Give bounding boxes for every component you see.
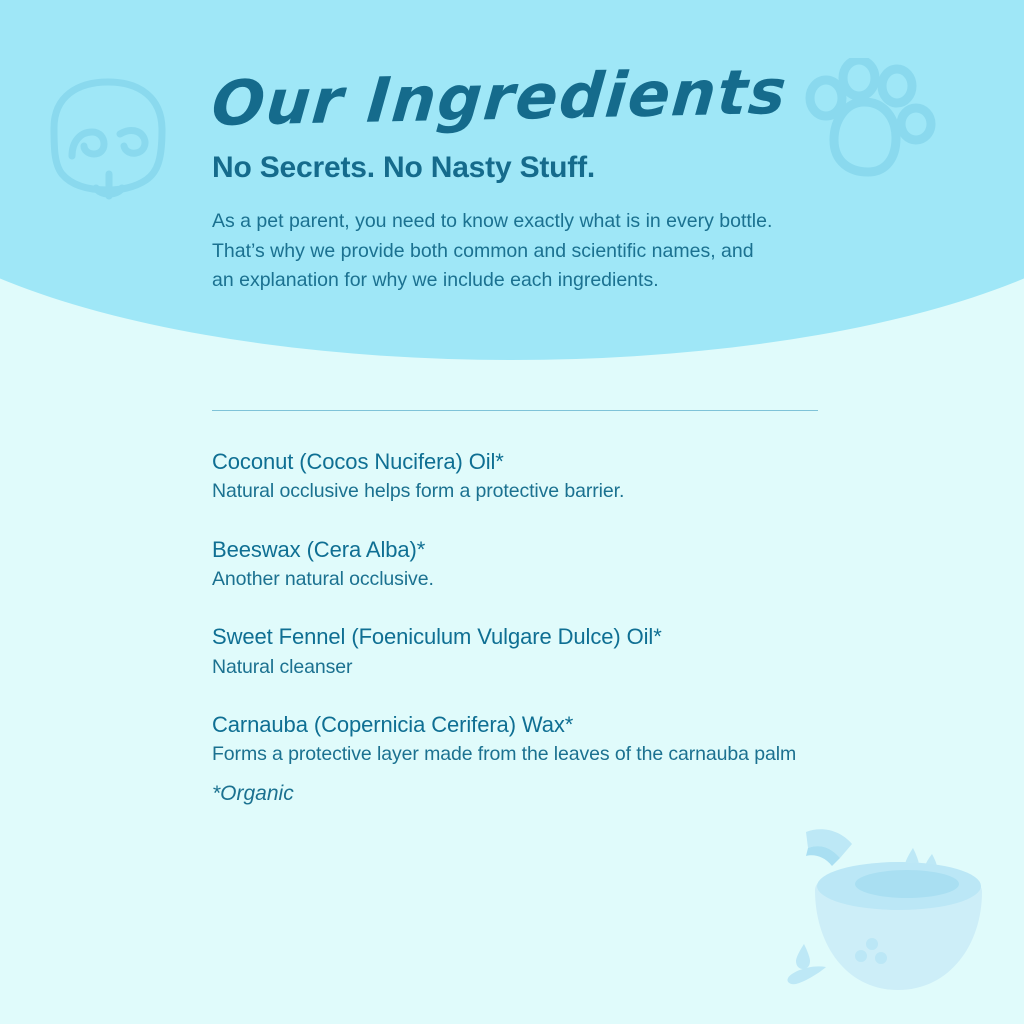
ingredient-description: Natural occlusive helps form a protectiv…	[212, 478, 932, 504]
poster-canvas: Our Ingredients No Secrets. No Nasty Stu…	[0, 0, 1024, 1024]
list-item: Beeswax (Cera Alba)* Another natural occ…	[212, 535, 932, 593]
header-text-block: Our Ingredients No Secrets. No Nasty Stu…	[212, 72, 912, 296]
list-item: Sweet Fennel (Foeniculum Vulgare Dulce) …	[212, 622, 932, 680]
ingredient-name: Beeswax (Cera Alba)*	[212, 535, 932, 564]
page-title: Our Ingredients	[209, 57, 916, 135]
ingredients-list: Coconut (Cocos Nucifera) Oil* Natural oc…	[212, 447, 932, 767]
ingredient-description: Natural cleanser	[212, 654, 932, 680]
section-divider	[212, 410, 818, 411]
intro-line: That’s why we provide both common and sc…	[212, 237, 892, 267]
intro-paragraph: As a pet parent, you need to know exactl…	[212, 207, 892, 296]
organic-footnote: *Organic	[212, 782, 294, 806]
list-item: Carnauba (Copernicia Cerifera) Wax* Form…	[212, 710, 932, 768]
intro-line: an explanation for why we include each i…	[212, 266, 892, 296]
intro-line: As a pet parent, you need to know exactl…	[212, 207, 892, 237]
ingredient-name: Coconut (Cocos Nucifera) Oil*	[212, 447, 932, 476]
list-item: Coconut (Cocos Nucifera) Oil* Natural oc…	[212, 447, 932, 505]
ingredient-description: Another natural occlusive.	[212, 566, 932, 592]
ingredient-name: Sweet Fennel (Foeniculum Vulgare Dulce) …	[212, 622, 932, 651]
ingredient-name: Carnauba (Copernicia Cerifera) Wax*	[212, 710, 932, 739]
coconut-icon	[782, 812, 1010, 1008]
ingredient-description: Forms a protective layer made from the l…	[212, 741, 932, 767]
page-subtitle: No Secrets. No Nasty Stuff.	[212, 151, 912, 185]
